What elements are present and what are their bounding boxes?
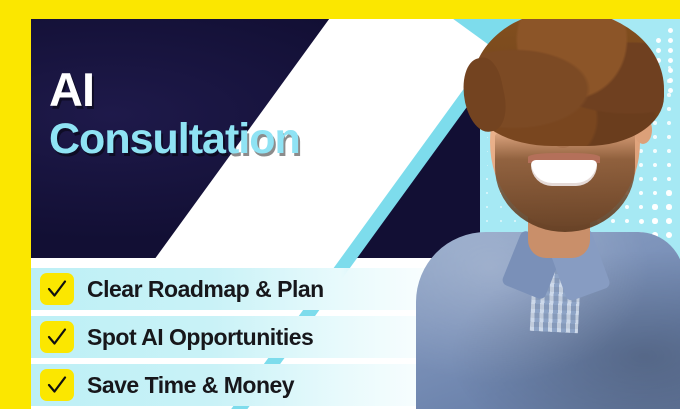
smile-teeth: [531, 160, 597, 186]
list-item-label: Clear Roadmap & Plan: [87, 276, 324, 303]
headline-line-1: AI: [49, 66, 300, 114]
thumbnail-canvas: AI Consultation Clear Roadmap & Plan Spo…: [0, 0, 680, 409]
benefit-list: Clear Roadmap & Plan Spot AI Opportuniti…: [31, 268, 461, 409]
frame-left-bar: [0, 0, 31, 409]
page-title: AI Consultation: [49, 66, 300, 162]
list-item: Save Time & Money: [31, 364, 461, 406]
list-item: Clear Roadmap & Plan: [31, 268, 461, 310]
list-item-label: Save Time & Money: [87, 372, 294, 399]
list-item: Spot AI Opportunities: [31, 316, 461, 358]
frame-top-bar: [0, 0, 680, 19]
check-icon: [40, 273, 74, 305]
list-item-label: Spot AI Opportunities: [87, 324, 313, 351]
portrait-photo: [398, 0, 680, 409]
check-icon: [40, 369, 74, 401]
headline-line-2: Consultation: [49, 118, 300, 162]
check-icon: [40, 321, 74, 353]
